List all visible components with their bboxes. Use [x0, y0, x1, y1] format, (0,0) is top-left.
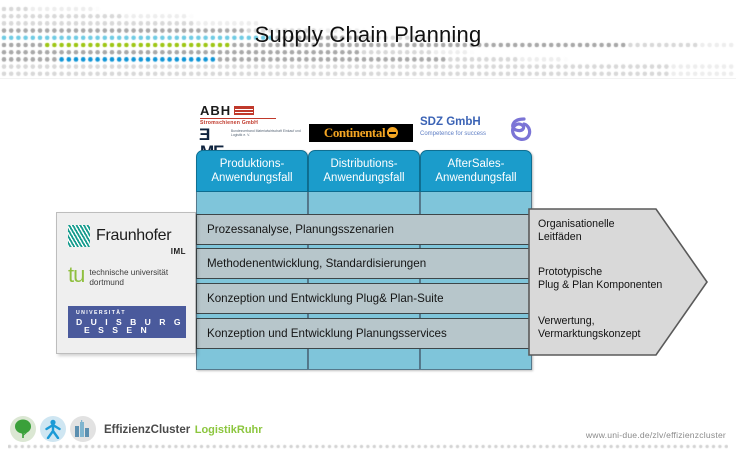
continental-logo: Continental	[309, 124, 413, 142]
page-title: Supply Chain Planning	[0, 22, 736, 48]
work-package-label: Konzeption und Entwicklung Planungsservi…	[207, 327, 447, 340]
effizienzcluster-logo: EffizienzCluster LogistikRuhr	[10, 416, 263, 442]
research-partners-panel: Fraunhofer IML tu technische universität…	[56, 212, 196, 354]
tu-dortmund-line1: technische universität	[89, 268, 168, 277]
footer-dot-rule	[8, 444, 728, 449]
people-icon	[40, 416, 66, 442]
tu-dortmund-line2: dortmund	[89, 278, 124, 287]
tu-dortmund-mark-icon: tu	[68, 265, 84, 285]
page-header: Supply Chain Planning	[0, 0, 736, 80]
column-header-produktion-line2: Anwendungsfall	[211, 171, 292, 185]
abh-logo: ABH Stromschienen GmbH	[200, 104, 278, 126]
fraunhofer-mark-icon	[68, 225, 90, 247]
work-package-row[interactable]: Konzeption und Entwicklung Planungsservi…	[196, 318, 538, 349]
result-item: Prototypische Plug & Plan Komponenten	[538, 266, 662, 292]
tu-dortmund-name: technische universität dortmund	[89, 265, 168, 287]
work-package-row[interactable]: Methodenentwicklung, Standardisierungen	[196, 248, 538, 279]
work-package-label: Prozessanalyse, Planungsszenarien	[207, 223, 394, 236]
column-header-distribution-line1: Distributions-	[330, 157, 397, 171]
column-header-aftersales-line2: Anwendungsfall	[435, 171, 516, 185]
column-header-aftersales[interactable]: AfterSales- Anwendungsfall	[420, 150, 532, 192]
column-header-distribution-line2: Anwendungsfall	[323, 171, 404, 185]
footer-brand: EffizienzCluster	[104, 424, 190, 436]
sdz-logo: SDZ GmbH Competence for success	[420, 116, 532, 138]
work-package-label: Methodenentwicklung, Standardisierungen	[207, 257, 426, 270]
fraunhofer-institute-label: IML	[68, 247, 186, 256]
uni-duisburg-essen-logo: UNIVERSITÄT D U I S B U R G E S S E N	[68, 306, 186, 338]
column-header-distribution[interactable]: Distributions- Anwendungsfall	[308, 150, 420, 192]
effizienzcluster-wordmark: EffizienzCluster LogistikRuhr	[104, 420, 263, 438]
continental-logo-word: Continental	[324, 125, 385, 140]
column-header-produktion-line1: Produktions-	[220, 157, 285, 171]
result-item: Organisationelle Leitfäden	[538, 218, 615, 244]
work-package-row[interactable]: Prozessanalyse, Planungsszenarien	[196, 214, 538, 245]
footer-url[interactable]: www.uni-due.de/zlv/effizienzcluster	[586, 430, 726, 440]
uni-due-small-label: UNIVERSITÄT	[76, 310, 186, 317]
bme-logo-subtitle: Bundesverband Materialwirtschaft Einkauf…	[231, 126, 305, 138]
partner-logos-produktion: ABH Stromschienen GmbH EME Bundesverband…	[196, 104, 308, 150]
tree-icon	[10, 416, 36, 442]
footer-subbrand: LogistikRuhr	[195, 424, 263, 436]
partner-logos-distribution: Continental	[306, 104, 418, 150]
partner-logos-aftersales: SDZ GmbH Competence for success	[416, 104, 532, 150]
fraunhofer-logo: Fraunhofer IML	[68, 225, 186, 256]
sdz-swirl-icon	[504, 116, 534, 146]
result-item: Verwertung, Vermarktungskonzept	[538, 315, 640, 341]
results-arrow: Organisationelle Leitfäden Prototypische…	[528, 208, 708, 356]
tu-dortmund-logo: tu technische universität dortmund	[68, 265, 196, 287]
column-header-aftersales-line1: AfterSales-	[448, 157, 505, 171]
work-package-row[interactable]: Konzeption und Entwicklung Plug& Plan-Su…	[196, 283, 538, 314]
column-header-produktion[interactable]: Produktions- Anwendungsfall	[196, 150, 308, 192]
abh-logo-rule	[200, 118, 276, 119]
continental-horse-mark-icon	[387, 127, 398, 138]
abh-logo-flag	[234, 106, 254, 115]
abh-logo-word: ABH	[200, 104, 231, 117]
header-divider	[0, 78, 736, 79]
work-package-label: Konzeption und Entwicklung Plug& Plan-Su…	[207, 292, 444, 305]
city-icon	[70, 416, 96, 442]
fraunhofer-logo-word: Fraunhofer	[96, 227, 171, 245]
